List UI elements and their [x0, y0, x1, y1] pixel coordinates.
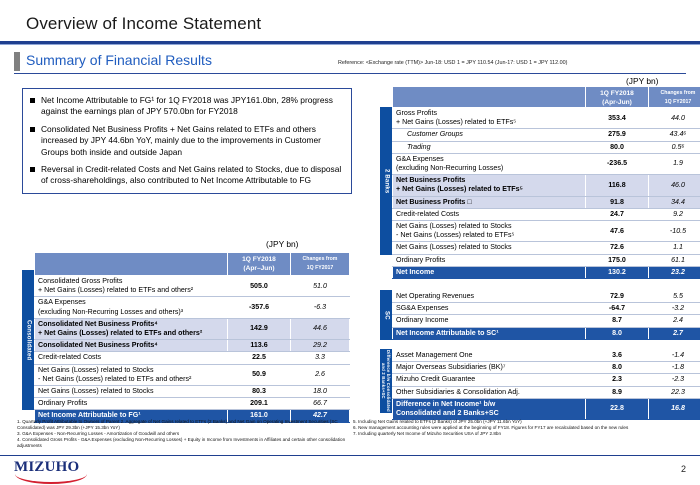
header-change-line2: 1Q FY2017: [294, 264, 346, 273]
row-label-line1: G&A Expenses: [38, 298, 224, 307]
bullet-text: Reversal in Credit-related Costs and Net…: [41, 164, 344, 187]
header-blank-cell: [35, 253, 228, 276]
table-row: Ordinary Profits175.061.1: [393, 254, 700, 266]
row-label: Asset Management One: [393, 350, 586, 362]
row-label: G&A Expenses(excluding Non-Recurring Los…: [35, 297, 228, 318]
row-value: 72.9: [586, 291, 649, 303]
table-row: Credit-related Costs24.79.2: [393, 208, 700, 220]
row-label-line1: G&A Expenses: [396, 155, 582, 164]
row-label-line1: Credit-related Costs: [38, 353, 224, 362]
row-label-line1: Net Income: [396, 268, 582, 277]
row-label-line1: Mizuho Credit Guarantee: [396, 375, 582, 384]
row-change: 18.0: [291, 386, 350, 398]
header-change-cell: Changes from1Q FY2017: [291, 253, 350, 276]
row-label-line2: Consolidated and 2 Banks+SC: [396, 409, 582, 418]
row-label: Net Gains (Losses) related to Stocks: [35, 386, 228, 398]
consolidated-table-wrap: 1Q FY2018(Apr–Jun)Changes from1Q FY2017C…: [34, 252, 350, 423]
row-value: 8.0: [586, 327, 649, 339]
row-change: 66.7: [291, 398, 350, 410]
row-label-line1: Customer Groups: [407, 130, 582, 139]
row-label-line1: Trading: [407, 143, 582, 152]
row-change: 5.5: [649, 291, 700, 303]
table-row: Other Subsidiaries & Consolidation Adj.8…: [393, 386, 700, 398]
logo-swoosh-icon: [15, 474, 87, 484]
row-label-line2: + Net Gains (Losses) related to ETFs⁵: [396, 185, 582, 194]
table-header-row: 1Q FY2018(Apr–Jun)Changes from1Q FY2017: [35, 253, 350, 276]
row-label-line2: (excluding Non-Recurring Losses and othe…: [38, 308, 224, 317]
row-value: 8.0: [586, 362, 649, 374]
table-row: G&A Expenses(excluding Non-Recurring Los…: [393, 153, 700, 174]
row-label: Ordinary Profits: [35, 398, 228, 410]
row-label: G&A Expenses(excluding Non-Recurring Los…: [393, 153, 586, 174]
row-change: 1.1: [649, 242, 700, 254]
row-value: -357.6: [228, 297, 291, 318]
row-value: 24.7: [586, 208, 649, 220]
row-value: 275.9: [586, 129, 649, 141]
table-row: Net Business Profits □91.834.4: [393, 196, 700, 208]
footnotes-right: 5. Including Net Gains related to ETFs (…: [353, 419, 689, 437]
row-value: 2.3: [586, 374, 649, 386]
logo-wordmark: MIZUHO: [14, 460, 94, 475]
row-label-line1: SG&A Expenses: [396, 304, 582, 313]
page-number: 2: [681, 464, 686, 474]
row-change: 0.5⁶: [649, 141, 700, 153]
bullet-item: Net Income Attributable to FG¹ for 1Q FY…: [30, 95, 344, 118]
row-label-line1: Major Overseas Subsidiaries (BK)⁷: [396, 363, 582, 372]
row-change: 2.4: [649, 315, 700, 327]
bullet-item: Reversal in Credit-related Costs and Net…: [30, 164, 344, 187]
table-row: Net Business Profits+ Net Gains (Losses)…: [393, 175, 700, 196]
row-change: 2.7: [649, 327, 700, 339]
row-change: -3.2: [649, 303, 700, 315]
difference-table: Asset Management One3.6-1.4Major Oversea…: [392, 349, 700, 420]
row-label: Consolidated Gross Profits+ Net Gains (L…: [35, 276, 228, 297]
table-row: Credit-related Costs22.53.3: [35, 352, 350, 364]
header-period-line1: 1Q FY2018: [589, 89, 645, 98]
right-table-side-label-sc: SC: [380, 290, 392, 340]
row-change: 43.4⁶: [649, 129, 700, 141]
difference-table-wrap: Asset Management One3.6-1.4Major Oversea…: [392, 349, 700, 420]
table-row: Consolidated Net Business Profits⁴113.62…: [35, 340, 350, 352]
row-label-line2: - Net Gains (Losses) related to ETFs⁵: [396, 231, 582, 240]
two-banks-table: Gross Profits+ Net Gains (Losses) relate…: [392, 107, 700, 279]
row-value: 8.7: [586, 315, 649, 327]
summary-bullet-box: Net Income Attributable to FG¹ for 1Q FY…: [22, 88, 352, 194]
section-accent-bar: [14, 52, 20, 71]
row-change: -1.4: [649, 350, 700, 362]
row-label-line1: Asset Management One: [396, 351, 582, 360]
table-row: Asset Management One3.6-1.4: [393, 350, 700, 362]
header-change-line1: Changes from: [652, 89, 700, 98]
row-label: Net Gains (Losses) related to Stocks: [393, 242, 586, 254]
row-change: 46.0: [649, 175, 700, 196]
row-change: 22.3: [649, 386, 700, 398]
row-label-line2: + Net Gains (Losses) related to ETFs and…: [38, 286, 224, 295]
table-row: Net Gains (Losses) related to Stocks- Ne…: [35, 364, 350, 385]
row-value: 353.4: [586, 108, 649, 129]
table-row: Net Income Attributable to SC¹8.02.7: [393, 327, 700, 339]
table-row: Major Overseas Subsidiaries (BK)⁷8.0-1.8: [393, 362, 700, 374]
row-label: Trading: [393, 141, 586, 153]
row-value: 8.9: [586, 386, 649, 398]
row-change: -6.3: [291, 297, 350, 318]
page-title: Overview of Income Statement: [26, 14, 261, 34]
row-value: 130.2: [586, 266, 649, 278]
row-label: Other Subsidiaries & Consolidation Adj.: [393, 386, 586, 398]
row-label-line1: Gross Profits: [396, 109, 582, 118]
row-label-line1: Ordinary Profits: [396, 256, 582, 265]
section-divider: [14, 73, 686, 74]
row-label-line1: Net Operating Revenues: [396, 292, 582, 301]
row-label-line2: (excluding Non-Recurring Losses): [396, 164, 582, 173]
consolidated-table: 1Q FY2018(Apr–Jun)Changes from1Q FY2017C…: [34, 252, 350, 423]
row-change: -2.3: [649, 374, 700, 386]
table-row: Difference in Net Income¹ b/wConsolidate…: [393, 398, 700, 419]
bullet-square-icon: [30, 127, 35, 132]
row-label-line1: Net Gains (Losses) related to Stocks: [38, 366, 224, 375]
row-value: 175.0: [586, 254, 649, 266]
sc-table-wrap: Net Operating Revenues72.95.5SG&A Expens…: [392, 290, 700, 340]
row-label-line1: Consolidated Net Business Profits⁴: [38, 320, 224, 329]
row-value: -64.7: [586, 303, 649, 315]
header-change-line2: 1Q FY2017: [652, 98, 700, 107]
row-value: 80.0: [586, 141, 649, 153]
row-label-line1: Consolidated Gross Profits: [38, 277, 224, 286]
header-change-line1: Changes from: [294, 255, 346, 264]
title-divider-secondary: [0, 44, 700, 45]
row-label-line1: Net Business Profits: [396, 176, 582, 185]
right-table-side-label-2banks: 2 Banks: [380, 107, 392, 255]
header-period-line2: (Apr-Jun): [589, 98, 645, 107]
row-value: 47.6: [586, 221, 649, 242]
footnotes-left: 1. Quarterly Profit Attributable to Owne…: [17, 419, 353, 449]
row-change: 23.2: [649, 266, 700, 278]
row-label-line1: Ordinary Profits: [38, 399, 224, 408]
row-value: 142.9: [228, 318, 291, 339]
row-label-line1: Ordinary Income: [396, 316, 582, 325]
header-period-line1: 1Q FY2018: [231, 255, 287, 264]
row-label: Customer Groups: [393, 129, 586, 141]
row-value: 3.6: [586, 350, 649, 362]
row-change: 61.1: [649, 254, 700, 266]
table-row: Trading80.00.5⁶: [393, 141, 700, 153]
row-change: 29.2: [291, 340, 350, 352]
row-change: 1.9: [649, 153, 700, 174]
row-label: Net Operating Revenues: [393, 291, 586, 303]
row-label: Gross Profits+ Net Gains (Losses) relate…: [393, 108, 586, 129]
row-label: Net Business Profits □: [393, 196, 586, 208]
row-value: -236.5: [586, 153, 649, 174]
row-label-line1: Net Gains (Losses) related to Stocks: [38, 387, 224, 396]
table-row: Net Operating Revenues72.95.5: [393, 291, 700, 303]
bullet-text: Consolidated Net Business Profits + Net …: [41, 124, 344, 158]
row-change: 51.0: [291, 276, 350, 297]
row-label: Consolidated Net Business Profits⁴: [35, 340, 228, 352]
table-row: Net Income130.223.2: [393, 266, 700, 278]
row-value: 113.6: [228, 340, 291, 352]
row-label-line1: Difference in Net Income¹ b/w: [396, 400, 582, 409]
row-label: Net Income Attributable to SC¹: [393, 327, 586, 339]
table-row: Net Gains (Losses) related to Stocks80.3…: [35, 386, 350, 398]
bullet-text: Net Income Attributable to FG¹ for 1Q FY…: [41, 95, 344, 118]
bullet-square-icon: [30, 167, 35, 172]
table-row: Mizuho Credit Guarantee2.3-2.3: [393, 374, 700, 386]
row-label-line1: Other Subsidiaries & Consolidation Adj.: [396, 388, 582, 397]
footer-divider: [0, 455, 700, 456]
header-period-cell: 1Q FY2018(Apr–Jun): [228, 253, 291, 276]
row-label-line1: Net Business Profits □: [396, 198, 582, 207]
row-label-line1: Net Income Attributable to SC¹: [396, 329, 582, 338]
row-label: Credit-related Costs: [35, 352, 228, 364]
row-change: -10.5: [649, 221, 700, 242]
mizuho-logo: MIZUHO: [14, 460, 94, 482]
left-table-side-label-consolidated: Consolidated: [22, 270, 34, 410]
table-row: Net Gains (Losses) related to Stocks72.6…: [393, 242, 700, 254]
row-value: 72.6: [586, 242, 649, 254]
section-title: Summary of Financial Results: [26, 52, 212, 68]
row-label-line2: - Net Gains (Losses) related to ETFs and…: [38, 375, 224, 384]
row-label: Major Overseas Subsidiaries (BK)⁷: [393, 362, 586, 374]
row-change: 3.3: [291, 352, 350, 364]
row-change: 2.6: [291, 364, 350, 385]
bullet-item: Consolidated Net Business Profits + Net …: [30, 124, 344, 158]
row-change: 34.4: [649, 196, 700, 208]
row-label: Net Business Profits+ Net Gains (Losses)…: [393, 175, 586, 196]
row-change: 16.8: [649, 398, 700, 419]
bullet-square-icon: [30, 98, 35, 103]
table-row: SG&A Expenses-64.7-3.2: [393, 303, 700, 315]
row-label-line1: Net Gains (Losses) related to Stocks: [396, 243, 582, 252]
row-value: 91.8: [586, 196, 649, 208]
row-value: 50.9: [228, 364, 291, 385]
table-row: Consolidated Gross Profits+ Net Gains (L…: [35, 276, 350, 297]
row-value: 116.8: [586, 175, 649, 196]
row-value: 22.5: [228, 352, 291, 364]
two-banks-body-wrap: Gross Profits+ Net Gains (Losses) relate…: [392, 107, 700, 279]
row-value: 209.1: [228, 398, 291, 410]
table-row: Gross Profits+ Net Gains (Losses) relate…: [393, 108, 700, 129]
row-label-line1: Credit-related Costs: [396, 210, 582, 219]
table-row: Net Gains (Losses) related to Stocks- Ne…: [393, 221, 700, 242]
row-label: Ordinary Income: [393, 315, 586, 327]
right-table-side-label-difference: Difference b/w Consolidated and 2 Banks+…: [380, 349, 392, 413]
table-row: G&A Expenses(excluding Non-Recurring Los…: [35, 297, 350, 318]
row-label: Net Gains (Losses) related to Stocks- Ne…: [35, 364, 228, 385]
row-label: Credit-related Costs: [393, 208, 586, 220]
table-row: Consolidated Net Business Profits⁴+ Net …: [35, 318, 350, 339]
row-label-line1: Net Gains (Losses) related to Stocks: [396, 222, 582, 231]
sc-table: Net Operating Revenues72.95.5SG&A Expens…: [392, 290, 700, 340]
row-label: Mizuho Credit Guarantee: [393, 374, 586, 386]
row-value: 505.0: [228, 276, 291, 297]
header-period-line2: (Apr–Jun): [231, 264, 287, 273]
table-row: Ordinary Income8.72.4: [393, 315, 700, 327]
row-label: Consolidated Net Business Profits⁴+ Net …: [35, 318, 228, 339]
table-row: Customer Groups275.943.4⁶: [393, 129, 700, 141]
exchange-rate-reference: Reference: <Exchange rate (TTM)> Jun-18:…: [338, 60, 567, 66]
row-value: 22.8: [586, 398, 649, 419]
row-label-line1: Consolidated Net Business Profits⁴: [38, 341, 224, 350]
row-label: Net Gains (Losses) related to Stocks- Ne…: [393, 221, 586, 242]
row-label: Ordinary Profits: [393, 254, 586, 266]
row-change: 9.2: [649, 208, 700, 220]
row-label: Difference in Net Income¹ b/wConsolidate…: [393, 398, 586, 419]
row-value: 80.3: [228, 386, 291, 398]
row-label-line2: + Net Gains (Losses) related to ETFs⁵: [396, 118, 582, 127]
row-label: SG&A Expenses: [393, 303, 586, 315]
row-change: 44.0: [649, 108, 700, 129]
unit-label-left: (JPY bn): [266, 239, 298, 249]
unit-label-right: (JPY bn): [626, 76, 658, 86]
row-label-line2: + Net Gains (Losses) related to ETFs and…: [38, 329, 224, 338]
table-row: Ordinary Profits209.166.7: [35, 398, 350, 410]
row-change: 44.6: [291, 318, 350, 339]
row-change: -1.8: [649, 362, 700, 374]
row-label: Net Income: [393, 266, 586, 278]
